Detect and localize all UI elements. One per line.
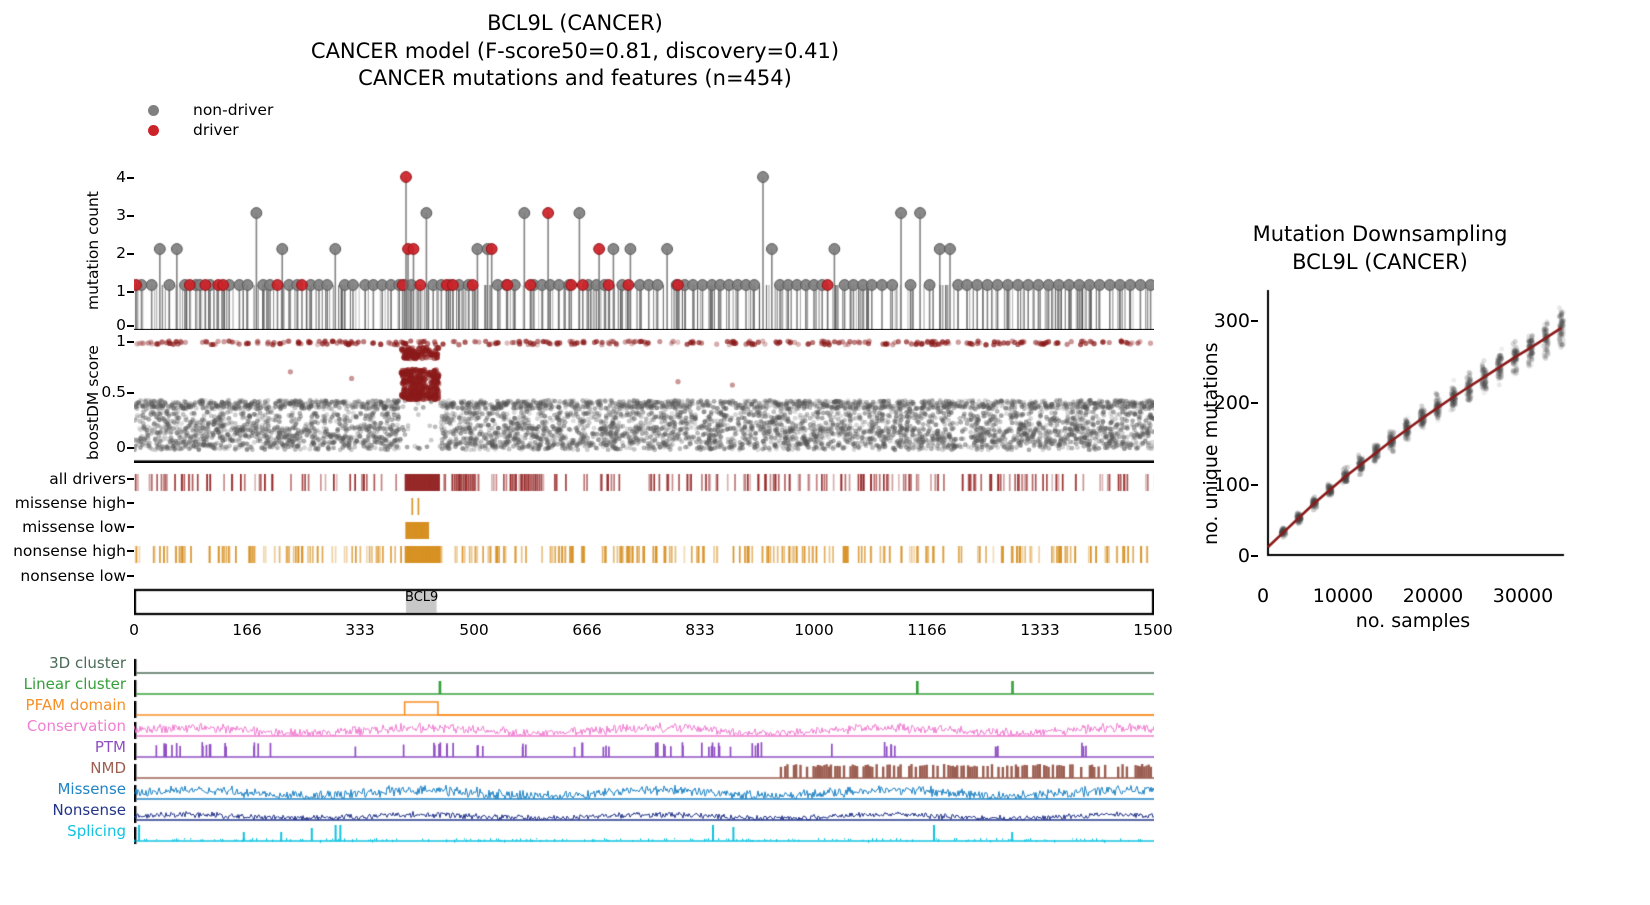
protein-domain-track <box>134 588 1154 618</box>
legend-label: non-driver <box>193 101 273 119</box>
feature-label-ptm: PTM <box>0 738 126 756</box>
page-title: BCL9L (CANCER) CANCER model (F-score50=0… <box>0 10 1150 93</box>
legend-item-driver: driver <box>148 120 273 140</box>
tick-boostdm-1: 1 <box>84 332 126 350</box>
ds-ytick-0: 0 <box>1198 545 1250 567</box>
track-label-missense-high: missense high <box>0 494 126 512</box>
xtick-333: 333 <box>330 621 390 639</box>
xtick-833: 833 <box>670 621 730 639</box>
legend-label: driver <box>193 121 239 139</box>
downsampling-scatter <box>1258 270 1568 580</box>
feature-label-splicing: Splicing <box>0 822 126 840</box>
axis-tick-mark <box>127 502 134 504</box>
feature-label-pfam-domain: PFAM domain <box>0 696 126 714</box>
feature-label-3d-cluster: 3D cluster <box>0 654 126 672</box>
axis-tick-mark <box>127 550 134 552</box>
track-label-missense-low: missense low <box>0 518 126 536</box>
downsampling-xlabel: no. samples <box>1258 610 1568 632</box>
ds-xtick-10000: 10000 <box>1298 585 1388 607</box>
axis-tick-mark <box>127 177 134 179</box>
ds-ytick-200: 200 <box>1198 392 1250 414</box>
xtick-500: 500 <box>444 621 504 639</box>
axis-tick-mark <box>1251 555 1258 557</box>
feature-tracks-panel <box>134 652 1154 852</box>
axis-tick-mark <box>127 215 134 217</box>
feature-label-missense: Missense <box>0 780 126 798</box>
axis-tick-mark <box>127 325 134 327</box>
track-label-nonsense-low: nonsense low <box>0 567 126 585</box>
title-line-2: CANCER model (F-score50=0.81, discovery=… <box>0 38 1150 66</box>
ds-ytick-100: 100 <box>1198 474 1250 496</box>
axis-tick-mark <box>127 392 134 394</box>
tick-boostdm-0: 0 <box>84 438 126 456</box>
xtick-1166: 1166 <box>897 621 957 639</box>
axis-tick-mark <box>1251 484 1258 486</box>
xtick-1500: 1500 <box>1123 621 1183 639</box>
xtick-166: 166 <box>217 621 277 639</box>
tick-mutcount-2: 2 <box>96 244 126 262</box>
tick-mutcount-3: 3 <box>96 206 126 224</box>
axis-tick-mark <box>1251 320 1258 322</box>
title-line-1: BCL9L (CANCER) <box>0 10 1150 38</box>
mutation-count-needleplot <box>134 165 1154 330</box>
downsampling-ylabel: no. unique mutations <box>1200 342 1222 545</box>
xtick-0: 0 <box>104 621 164 639</box>
legend: non-driver driver <box>148 100 273 140</box>
xtick-1333: 1333 <box>1010 621 1070 639</box>
xtick-1000: 1000 <box>784 621 844 639</box>
axis-tick-mark <box>127 291 134 293</box>
feature-label-nmd: NMD <box>0 759 126 777</box>
legend-item-non-driver: non-driver <box>148 100 273 120</box>
downsampling-title: Mutation Downsampling BCL9L (CANCER) <box>1180 220 1580 276</box>
axis-tick-mark <box>127 253 134 255</box>
track-label-nonsense-high: nonsense high <box>0 542 126 560</box>
tick-mutcount-4: 4 <box>96 168 126 186</box>
axis-tick-mark <box>127 526 134 528</box>
downsampling-title-line-2: BCL9L (CANCER) <box>1180 248 1580 276</box>
ds-xtick-30000: 30000 <box>1478 585 1568 607</box>
legend-dot-icon <box>148 125 159 136</box>
xtick-666: 666 <box>557 621 617 639</box>
feature-label-conservation: Conservation <box>0 717 126 735</box>
title-line-3: CANCER mutations and features (n=454) <box>0 65 1150 93</box>
axis-tick-mark <box>127 447 134 449</box>
legend-dot-icon <box>148 105 159 116</box>
ds-ytick-300: 300 <box>1198 310 1250 332</box>
domain-label-bcl9: BCL9 <box>405 590 438 605</box>
downsampling-title-line-1: Mutation Downsampling <box>1180 220 1580 248</box>
boostdm-score-scatter <box>134 333 1154 463</box>
feature-label-nonsense: Nonsense <box>0 801 126 819</box>
tick-mutcount-1: 1 <box>96 282 126 300</box>
ds-xtick-0: 0 <box>1243 585 1283 607</box>
track-label-all-drivers: all drivers <box>0 470 126 488</box>
axis-tick-mark <box>127 341 134 343</box>
tick-boostdm-05: 0.5 <box>84 383 126 401</box>
axis-tick-mark <box>1251 402 1258 404</box>
axis-tick-mark <box>127 478 134 480</box>
axis-tick-mark <box>127 575 134 577</box>
driver-annotation-tracks <box>134 466 1154 588</box>
ds-xtick-20000: 20000 <box>1388 585 1478 607</box>
feature-label-linear-cluster: Linear cluster <box>0 675 126 693</box>
